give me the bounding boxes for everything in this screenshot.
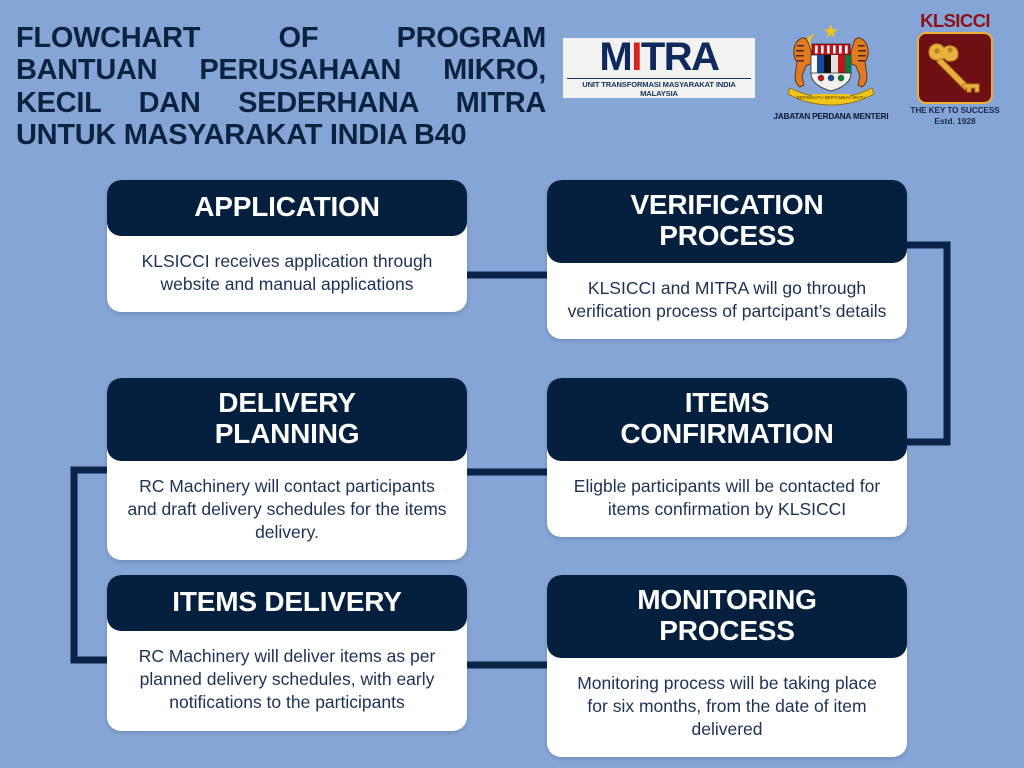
heading-line-1: VERIFICATION (557, 190, 897, 221)
mitra-wordmark: MITRA (567, 39, 751, 77)
flow-card-application-heading: APPLICATION (107, 180, 467, 236)
mitra-wordmark-tra: TRA (641, 35, 719, 79)
heading-line-2: PROCESS (557, 616, 897, 647)
heading-line-2: CONFIRMATION (557, 419, 897, 450)
connector-verification-to-items-confirmation (907, 245, 947, 442)
svg-text:BERSEKUTU BERTAMBAH MUTU: BERSEKUTU BERTAMBAH MUTU (797, 95, 866, 100)
flow-card-monitoring-process-body: Monitoring process will be taking place … (547, 658, 907, 758)
mitra-wordmark-i-accent: I (631, 35, 641, 79)
flow-card-application-body: KLSICCI receives application through web… (107, 236, 467, 313)
flow-card-monitoring-process-heading: MONITORING PROCESS (547, 575, 907, 658)
title-line-1: FLOWCHART OF PROGRAM (16, 22, 546, 54)
flow-card-monitoring-process[interactable]: MONITORING PROCESS Monitoring process wi… (547, 575, 907, 757)
jata-negara-logo: BERSEKUTU BERTAMBAH MUTU JABATAN PERDANA… (772, 14, 890, 132)
logo-strip: MITRA UNIT TRANSFORMASI MASYARAKAT INDIA… (560, 8, 1020, 133)
klsicci-wordmark: KLSICCI (898, 10, 1012, 32)
flow-card-items-confirmation-body: Eligble participants will be contacted f… (547, 461, 907, 538)
key-icon (919, 34, 991, 102)
header-banner: FLOWCHART OF PROGRAM BANTUAN PERUSAHAAN … (0, 0, 1024, 165)
heading-line-2: PROCESS (557, 221, 897, 252)
flow-card-verification-process-heading: VERIFICATION PROCESS (547, 180, 907, 263)
heading-line-1: ITEMS (557, 388, 897, 419)
connector-delivery-planning-to-items-delivery (74, 470, 107, 660)
coat-of-arms-icon: BERSEKUTU BERTAMBAH MUTU (772, 14, 890, 112)
flow-card-delivery-planning-heading: DELIVERY PLANNING (107, 378, 467, 461)
flow-card-delivery-planning-body: RC Machinery will contact participants a… (107, 461, 467, 561)
klsicci-established: Estd. 1928 (898, 116, 1012, 126)
flow-card-application[interactable]: APPLICATION KLSICCI receives application… (107, 180, 467, 312)
jata-negara-caption: JABATAN PERDANA MENTERI (772, 112, 890, 121)
title-line-2: BANTUAN PERUSAHAAN MIKRO, (16, 54, 546, 86)
klsicci-tagline: THE KEY TO SUCCESS (898, 106, 1012, 116)
flow-card-items-delivery-body: RC Machinery will deliver items as per p… (107, 631, 467, 731)
flow-card-items-delivery-heading: ITEMS DELIVERY (107, 575, 467, 631)
page-title: FLOWCHART OF PROGRAM BANTUAN PERUSAHAAN … (16, 22, 546, 152)
title-line-4: UNTUK MASYARAKAT INDIA B40 (16, 119, 546, 151)
mitra-subtitle: UNIT TRANSFORMASI MASYARAKAT INDIA MALAY… (567, 78, 751, 98)
flow-card-items-confirmation-heading: ITEMS CONFIRMATION (547, 378, 907, 461)
flow-card-verification-process[interactable]: VERIFICATION PROCESS KLSICCI and MITRA w… (547, 180, 907, 339)
mitra-wordmark-m: M (599, 35, 631, 79)
heading-line-1: DELIVERY (117, 388, 457, 419)
title-line-3: KECIL DAN SEDERHANA MITRA (16, 87, 546, 119)
klsicci-emblem (917, 32, 993, 104)
klsicci-logo: KLSICCI THE KEY TO SUCCESS Estd. 1928 (898, 10, 1012, 130)
heading-line-1: MONITORING (557, 585, 897, 616)
mitra-logo: MITRA UNIT TRANSFORMASI MASYARAKAT INDIA… (563, 38, 755, 98)
flow-card-items-confirmation[interactable]: ITEMS CONFIRMATION Eligble participants … (547, 378, 907, 537)
flow-card-items-delivery[interactable]: ITEMS DELIVERY RC Machinery will deliver… (107, 575, 467, 731)
flow-card-verification-process-body: KLSICCI and MITRA will go through verifi… (547, 263, 907, 340)
flow-card-delivery-planning[interactable]: DELIVERY PLANNING RC Machinery will cont… (107, 378, 467, 560)
heading-line-2: PLANNING (117, 419, 457, 450)
